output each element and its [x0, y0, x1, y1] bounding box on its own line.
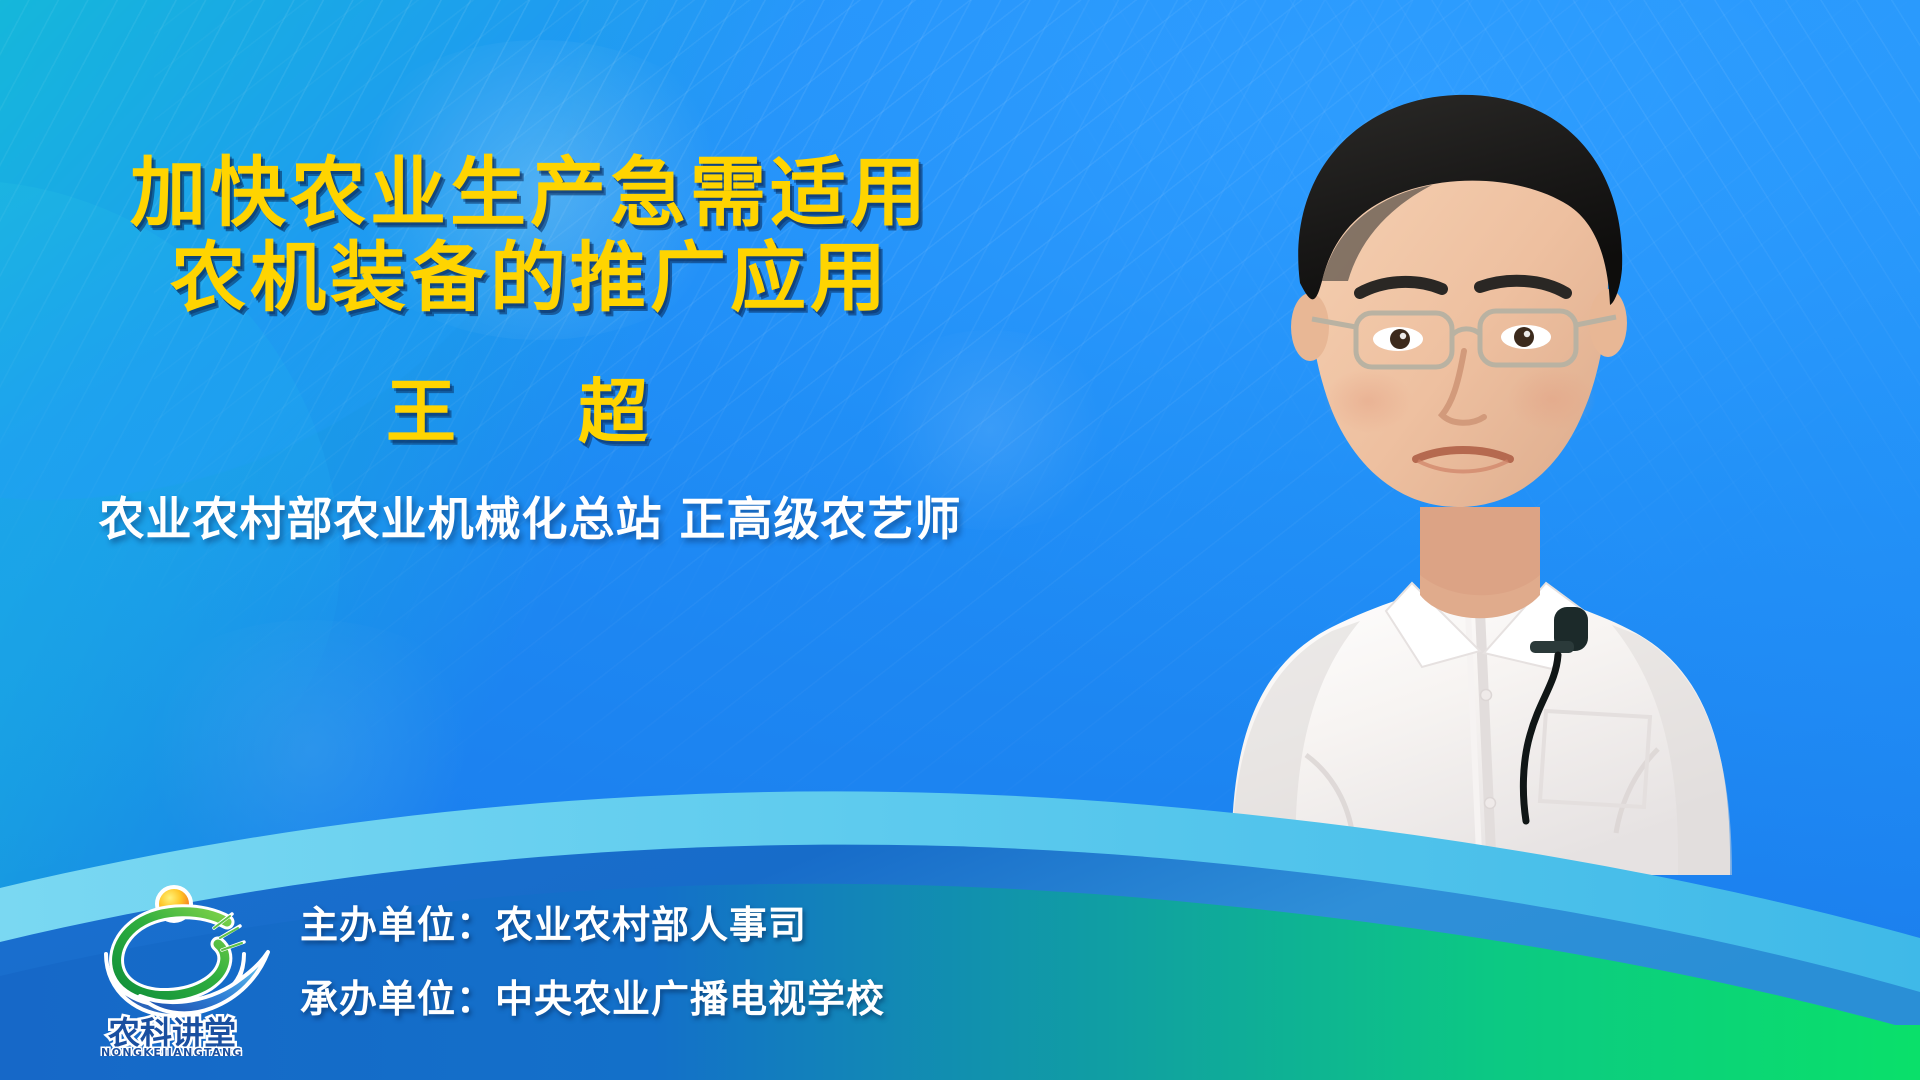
title-line-2: 农机装备的推广应用: [0, 235, 1060, 320]
title-slide: 加快农业生产急需适用 农机装备的推广应用 王 超 农业农村部农业机械化总站 正高…: [0, 0, 1920, 1080]
logo-name-pinyin: NONGKEJIANGTANG: [101, 1046, 243, 1056]
presenter-head: [1291, 95, 1627, 507]
logo-wheat-icon: [117, 912, 244, 996]
speaker-affiliation: 农业农村部农业机械化总站 正高级农艺师: [0, 483, 1060, 549]
title-block: 加快农业生产急需适用 农机装备的推广应用 王 超 农业农村部农业机械化总站 正高…: [0, 150, 1060, 549]
title-line-1: 加快农业生产急需适用: [0, 150, 1060, 235]
presenter-torso: [1232, 583, 1732, 875]
presenter-photo: [1060, 55, 1760, 875]
speaker-name: 王 超: [0, 356, 1060, 457]
nongke-jiangtang-logo: 农科讲堂 NONGKEJIANGTANG: [62, 866, 282, 1056]
footer-host-line: 主办单位：农业农村部人事司: [300, 906, 1200, 944]
footer-organizer-line: 承办单位：中央农业广播电视学校: [300, 980, 1200, 1018]
footer-credits: 主办单位：农业农村部人事司 承办单位：中央农业广播电视学校: [300, 906, 1200, 1018]
